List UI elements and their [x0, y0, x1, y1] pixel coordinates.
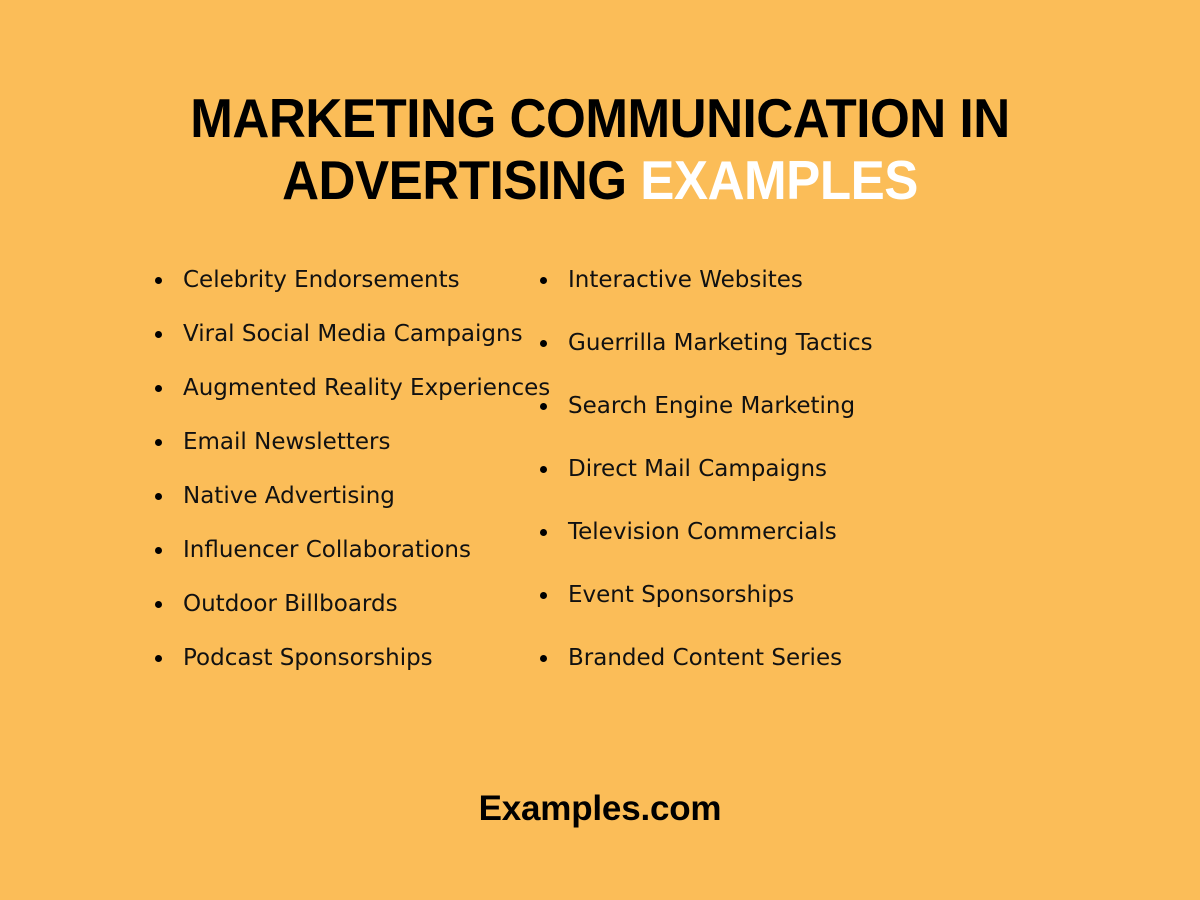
list-item: Celebrity Endorsements — [155, 266, 495, 294]
list-item: Podcast Sponsorships — [155, 644, 495, 672]
list-item: Native Advertising — [155, 482, 495, 510]
list-item: Direct Mail Campaigns — [540, 455, 1015, 483]
bullet-icon — [155, 331, 162, 338]
list-item-label: Influencer Collaborations — [183, 537, 471, 563]
list-item-label: Outdoor Billboards — [183, 591, 398, 617]
list-item: Viral Social Media Campaigns — [155, 320, 495, 348]
page-title: MARKETING COMMUNICATION IN ADVERTISING E… — [0, 88, 1200, 210]
list-item-label: Event Sponsorships — [568, 582, 794, 608]
example-list-left: Celebrity Endorsements Viral Social Medi… — [155, 266, 495, 672]
list-item-label: Direct Mail Campaigns — [568, 456, 827, 482]
list-item-label: Guerrilla Marketing Tactics — [568, 330, 873, 356]
list-item: Search Engine Marketing — [540, 392, 1015, 420]
list-item: Guerrilla Marketing Tactics — [540, 329, 1015, 357]
bullet-icon — [540, 340, 547, 347]
list-item: Branded Content Series — [540, 644, 1015, 672]
poster-canvas: MARKETING COMMUNICATION IN ADVERTISING E… — [0, 0, 1200, 900]
bullet-icon — [540, 592, 547, 599]
list-item-label: Television Commercials — [568, 519, 837, 545]
examples-column-left: Celebrity Endorsements Viral Social Medi… — [0, 266, 495, 672]
bullet-icon — [540, 277, 547, 284]
list-item-label: Native Advertising — [183, 483, 395, 509]
bullet-icon — [540, 466, 547, 473]
title-line-2: ADVERTISING EXAMPLES — [116, 150, 1083, 210]
list-item-label: Branded Content Series — [568, 645, 842, 671]
bullet-icon — [540, 529, 547, 536]
title-line-2-prefix: ADVERTISING — [282, 149, 640, 211]
examples-columns: Celebrity Endorsements Viral Social Medi… — [0, 266, 1200, 672]
bullet-icon — [155, 601, 162, 608]
list-item: Email Newsletters — [155, 428, 495, 456]
footer: Examples.com — [0, 788, 1200, 830]
bullet-icon — [155, 493, 162, 500]
list-item: Television Commercials — [540, 518, 1015, 546]
list-item-label: Viral Social Media Campaigns — [183, 321, 523, 347]
list-item-label: Celebrity Endorsements — [183, 267, 460, 293]
bullet-icon — [540, 403, 547, 410]
list-item: Influencer Collaborations — [155, 536, 495, 564]
example-list-right: Interactive Websites Guerrilla Marketing… — [540, 266, 1015, 672]
list-item-label: Augmented Reality Experiences — [183, 375, 550, 401]
bullet-icon — [155, 277, 162, 284]
bullet-icon — [155, 439, 162, 446]
list-item: Event Sponsorships — [540, 581, 1015, 609]
list-item-label: Email Newsletters — [183, 429, 390, 455]
list-item-label: Interactive Websites — [568, 267, 803, 293]
brand-wordmark: Examples.com — [479, 788, 722, 830]
list-item: Outdoor Billboards — [155, 590, 495, 618]
bullet-icon — [155, 385, 162, 392]
title-line-1: MARKETING COMMUNICATION IN — [116, 88, 1083, 148]
examples-column-right: Interactive Websites Guerrilla Marketing… — [495, 266, 1015, 672]
bullet-icon — [540, 655, 547, 662]
title-highlight-examples: EXAMPLES — [640, 149, 918, 211]
bullet-icon — [155, 547, 162, 554]
list-item: Augmented Reality Experiences — [155, 374, 495, 402]
list-item-label: Search Engine Marketing — [568, 393, 855, 419]
list-item: Interactive Websites — [540, 266, 1015, 294]
bullet-icon — [155, 655, 162, 662]
list-item-label: Podcast Sponsorships — [183, 645, 433, 671]
